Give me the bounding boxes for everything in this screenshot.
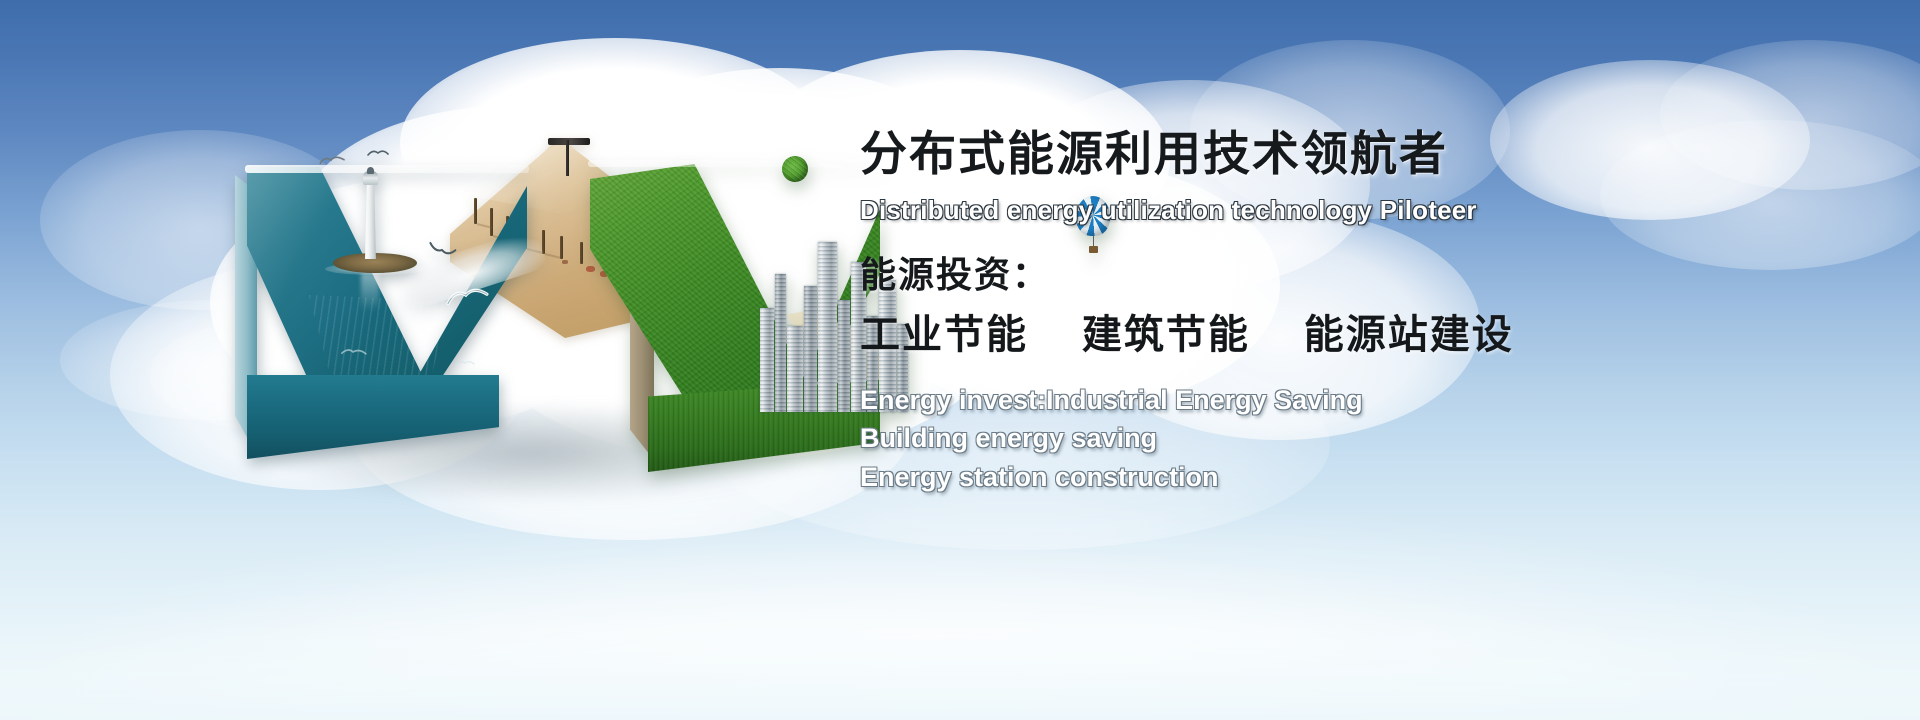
skyscraper: [804, 286, 817, 412]
skyscraper: [787, 326, 803, 412]
service-item-cn-3: 能源站建设: [1304, 312, 1514, 358]
service-item-en-1: Energy invest:Industrial Energy Saving: [860, 381, 1870, 419]
page-title: 分布式能源利用技术领航者: [860, 128, 1870, 183]
fence-post: [560, 236, 563, 259]
grassland-scene: [590, 150, 890, 490]
services-list-en: Energy invest:Industrial Energy Saving B…: [860, 381, 1870, 496]
skyscraper: [775, 274, 786, 412]
service-item-cn-1: 工业节能: [860, 312, 1028, 358]
wind-vane-pole: [566, 140, 569, 176]
camel-figure: [562, 260, 568, 264]
banner-text-block: 分布式能源利用技术领航者 Distributed energy utilizat…: [860, 128, 1870, 496]
seagull-icon: [341, 346, 368, 358]
tree-texture: [782, 156, 808, 182]
service-item-en-3: Energy station construction: [860, 458, 1870, 496]
seagull-icon: [367, 149, 389, 158]
service-item-en-2: Building energy saving: [860, 419, 1870, 457]
fence-post: [580, 242, 583, 264]
ocean-front-face: [247, 375, 499, 459]
services-list-cn: 工业节能 建筑节能 能源站建设: [860, 311, 1870, 359]
letter-w-artwork: [235, 120, 835, 500]
ocean-top-bevel: [245, 165, 529, 173]
subtitle-english: Distributed energy utilization technolog…: [860, 195, 1870, 226]
section-label: 能源投资：: [860, 254, 1870, 297]
skyscraper: [838, 300, 850, 412]
lighthouse-lamp: [367, 167, 374, 174]
skyscraper: [760, 308, 774, 412]
skyscraper: [818, 242, 837, 412]
service-item-cn-2: 建筑节能: [1082, 312, 1250, 358]
lighthouse-icon: [364, 181, 377, 259]
wind-vane-icon: [548, 138, 590, 145]
lighthouse-reflection: [361, 273, 379, 311]
hero-banner: 分布式能源利用技术领航者 Distributed energy utilizat…: [0, 0, 1920, 720]
ocean-scene: [235, 145, 545, 475]
seagull-icon: [455, 359, 475, 367]
grass-top-bevel: [588, 160, 884, 167]
bottom-haze-band: [0, 630, 1920, 720]
